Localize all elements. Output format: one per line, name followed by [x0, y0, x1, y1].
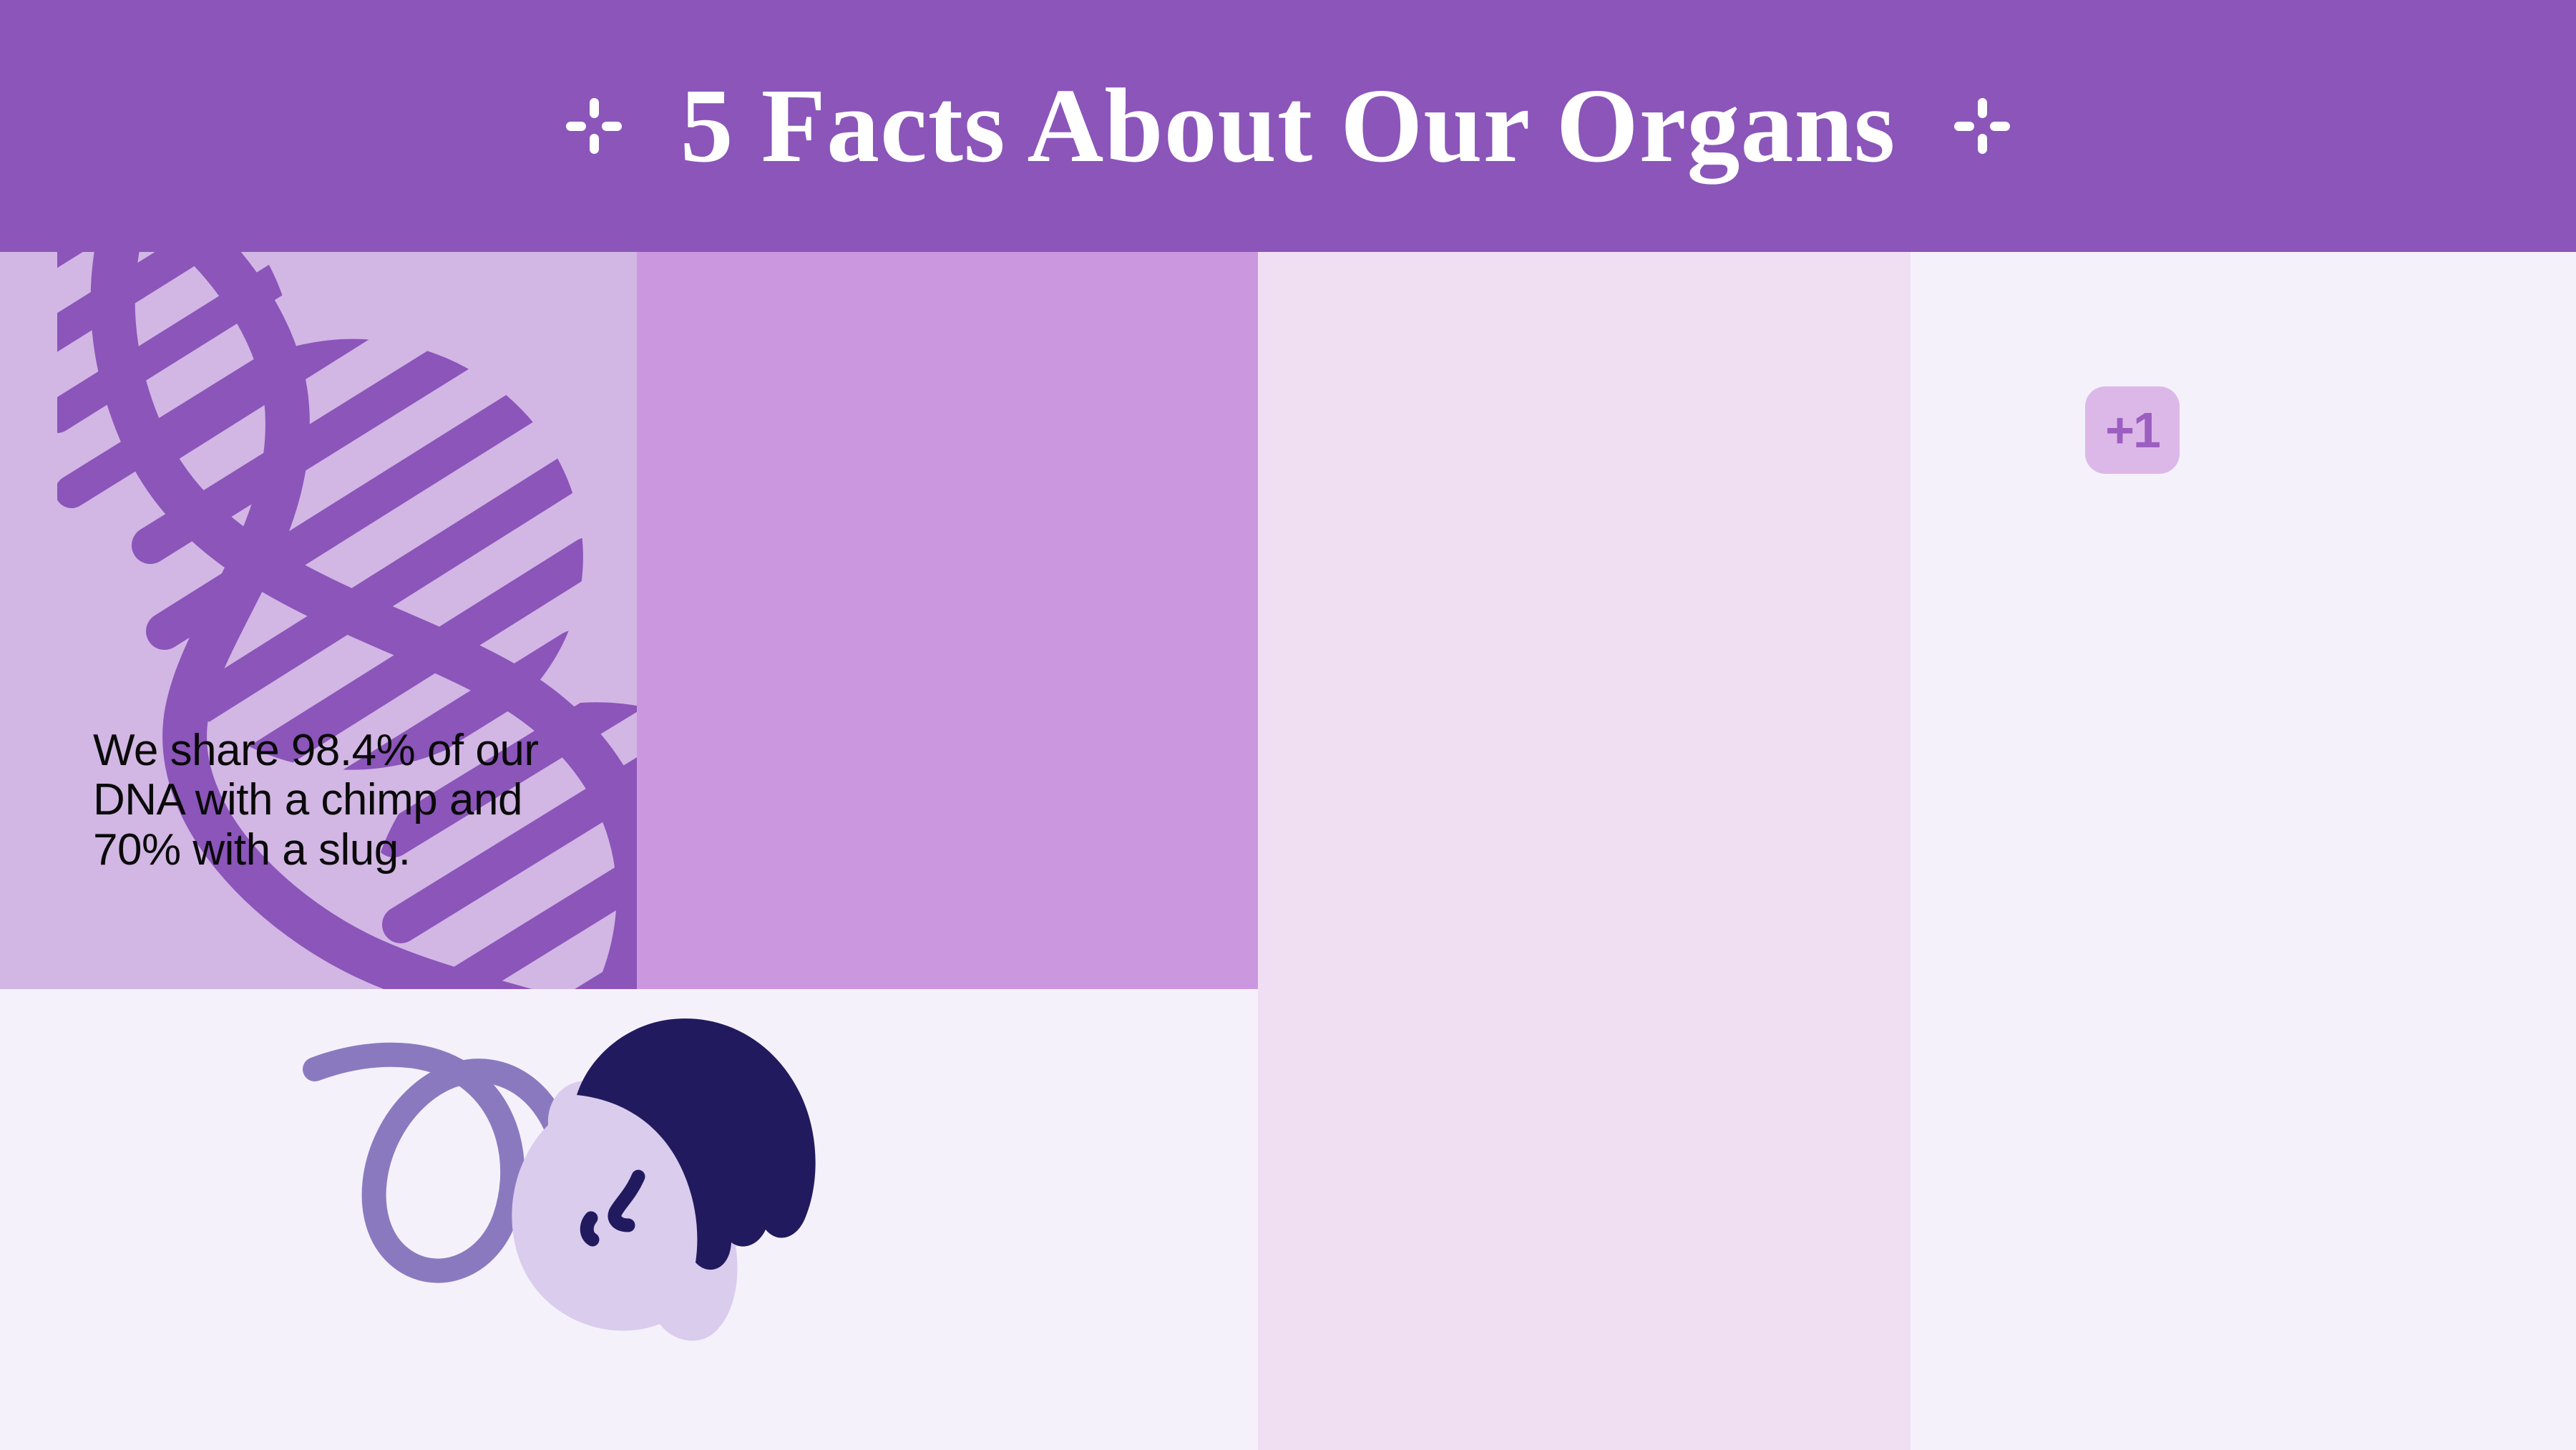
plus-one-badge: +1 [2085, 386, 2180, 474]
head-icon [301, 989, 844, 1368]
panel-dna: We share 98.4% of our DNA with a chimp a… [0, 252, 637, 989]
header-banner: 5 Facts About Our Organs [0, 0, 2576, 252]
infographic-canvas: 5 Facts About Our Organs [0, 0, 2576, 1450]
plus-ornament-right-icon [1954, 98, 2010, 154]
plus-one-badge-label: +1 [2105, 405, 2160, 455]
dna-helix-icon [57, 252, 637, 989]
page-title: 5 Facts About Our Organs [680, 73, 1896, 179]
fact-text-dna: We share 98.4% of our DNA with a chimp a… [93, 726, 594, 875]
panel-extra-rib: +1 One person in 20 has an extra rib, an… [1911, 252, 2576, 1450]
panel-tongue-print: Like fingerprints, every person has a un… [637, 252, 1258, 989]
panel-decapitated-head: The human head remains conscious for abo… [0, 989, 1258, 1450]
plus-ornament-left-icon [566, 98, 622, 154]
panel-brain-pain: The brain doesn’t feel pain; even though… [1258, 252, 1911, 1450]
